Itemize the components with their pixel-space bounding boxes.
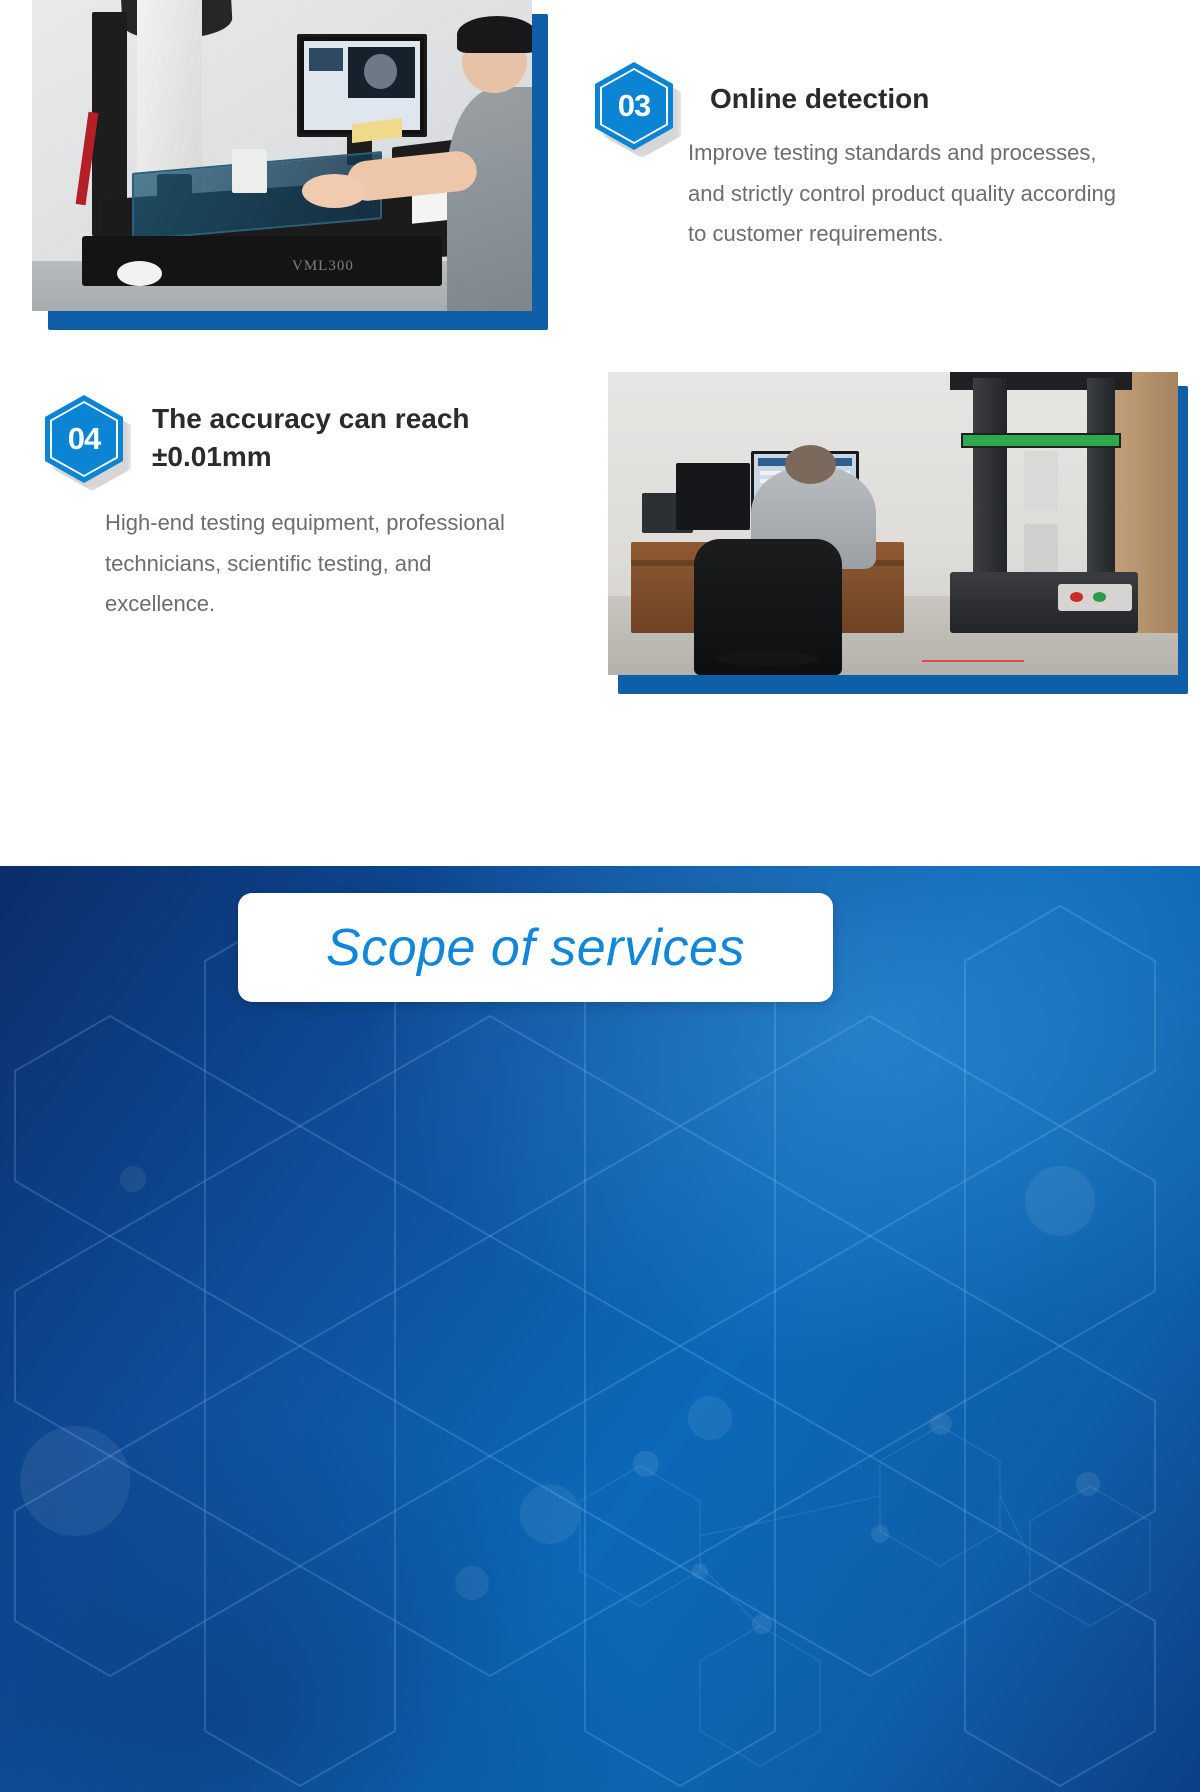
machine-model-label: VML300 (292, 258, 372, 277)
photo-image-tensile-tester (608, 372, 1178, 675)
feature-title-accuracy: The accuracy can reach ±0.01mm (152, 400, 532, 476)
scope-title-card: Scope of services (238, 893, 833, 1002)
photo-accuracy-lab (608, 372, 1188, 694)
scope-title-text: Scope of services (326, 918, 745, 978)
badge-number: 04 (45, 395, 123, 483)
feature-body-online-detection: Improve testing standards and processes,… (688, 133, 1118, 255)
badge-04: 04 (45, 395, 123, 483)
scope-of-services-section: 01 CNC processing of engineering plastic… (0, 866, 1200, 1792)
badge-03: 03 (595, 62, 673, 150)
photo-image-measuring-machine: VML300 (32, 0, 532, 311)
photo-online-detection: VML300 (32, 0, 548, 330)
feature-title-online-detection: Online detection (710, 80, 1140, 118)
feature-body-accuracy: High-end testing equipment, professional… (105, 503, 545, 625)
badge-number: 03 (595, 62, 673, 150)
decorative-bubbles (0, 866, 1200, 1792)
features-section: VML300 03 Online detection Improve testi… (0, 0, 1200, 866)
